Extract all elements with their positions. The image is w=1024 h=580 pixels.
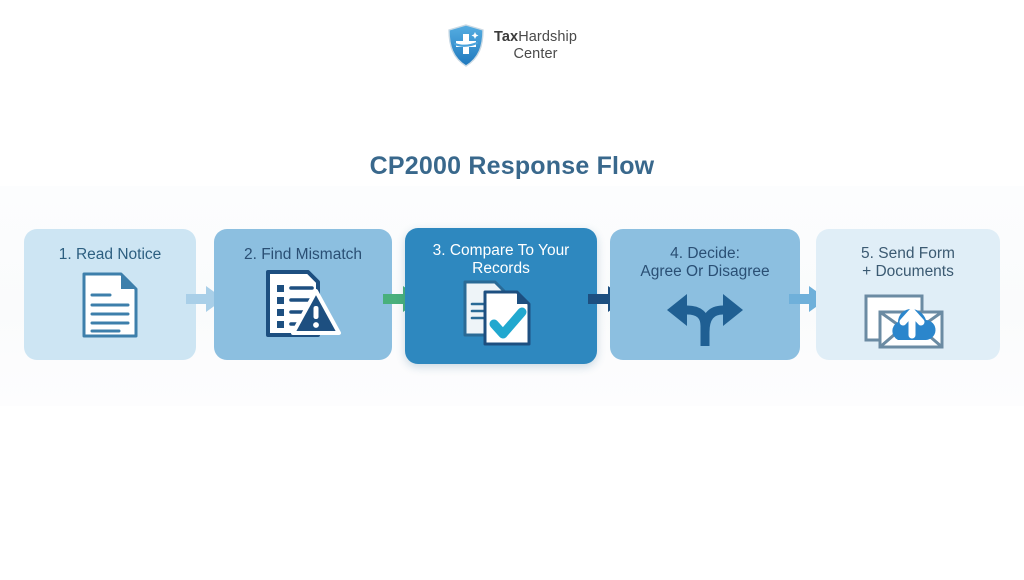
flow-step-read-notice[interactable]: 1. Read Notice [24, 229, 196, 360]
document-lines-icon [79, 271, 141, 344]
flow-step-send-form[interactable]: 5. Send Form + Documents [816, 229, 1000, 360]
documents-check-icon [461, 280, 541, 351]
fork-arrows-icon [657, 290, 753, 353]
flow-step-compare-records[interactable]: 3. Compare To Your Records [405, 228, 597, 364]
shield-plus-icon [447, 24, 485, 68]
flow-step-5-label: 5. Send Form + Documents [861, 245, 955, 281]
flow-step-3-label: 3. Compare To Your Records [433, 242, 570, 278]
flow-step-1-label: 1. Read Notice [59, 246, 162, 264]
flow-step-2-label: 2. Find Mismatch [244, 246, 362, 264]
brand-name-bold: Tax [494, 29, 518, 45]
brand-name-rest: Hardship [518, 29, 577, 45]
flow-step-4-label: 4. Decide: Agree Or Disagree [640, 245, 769, 281]
brand-name-line2: Center [513, 46, 557, 63]
page-title: CP2000 Response Flow [0, 152, 1024, 181]
envelope-cloud-upload-icon [860, 288, 956, 355]
checklist-warning-icon [264, 269, 342, 344]
flow-diagram: 1. Read Notice 2. Find Mismatch [0, 186, 1024, 406]
flow-step-decide[interactable]: 4. Decide: Agree Or Disagree [610, 229, 800, 360]
flow-step-find-mismatch[interactable]: 2. Find Mismatch [214, 229, 392, 360]
brand-header: TaxHardship Center [0, 24, 1024, 68]
brand-wordmark: TaxHardship Center [494, 29, 577, 63]
